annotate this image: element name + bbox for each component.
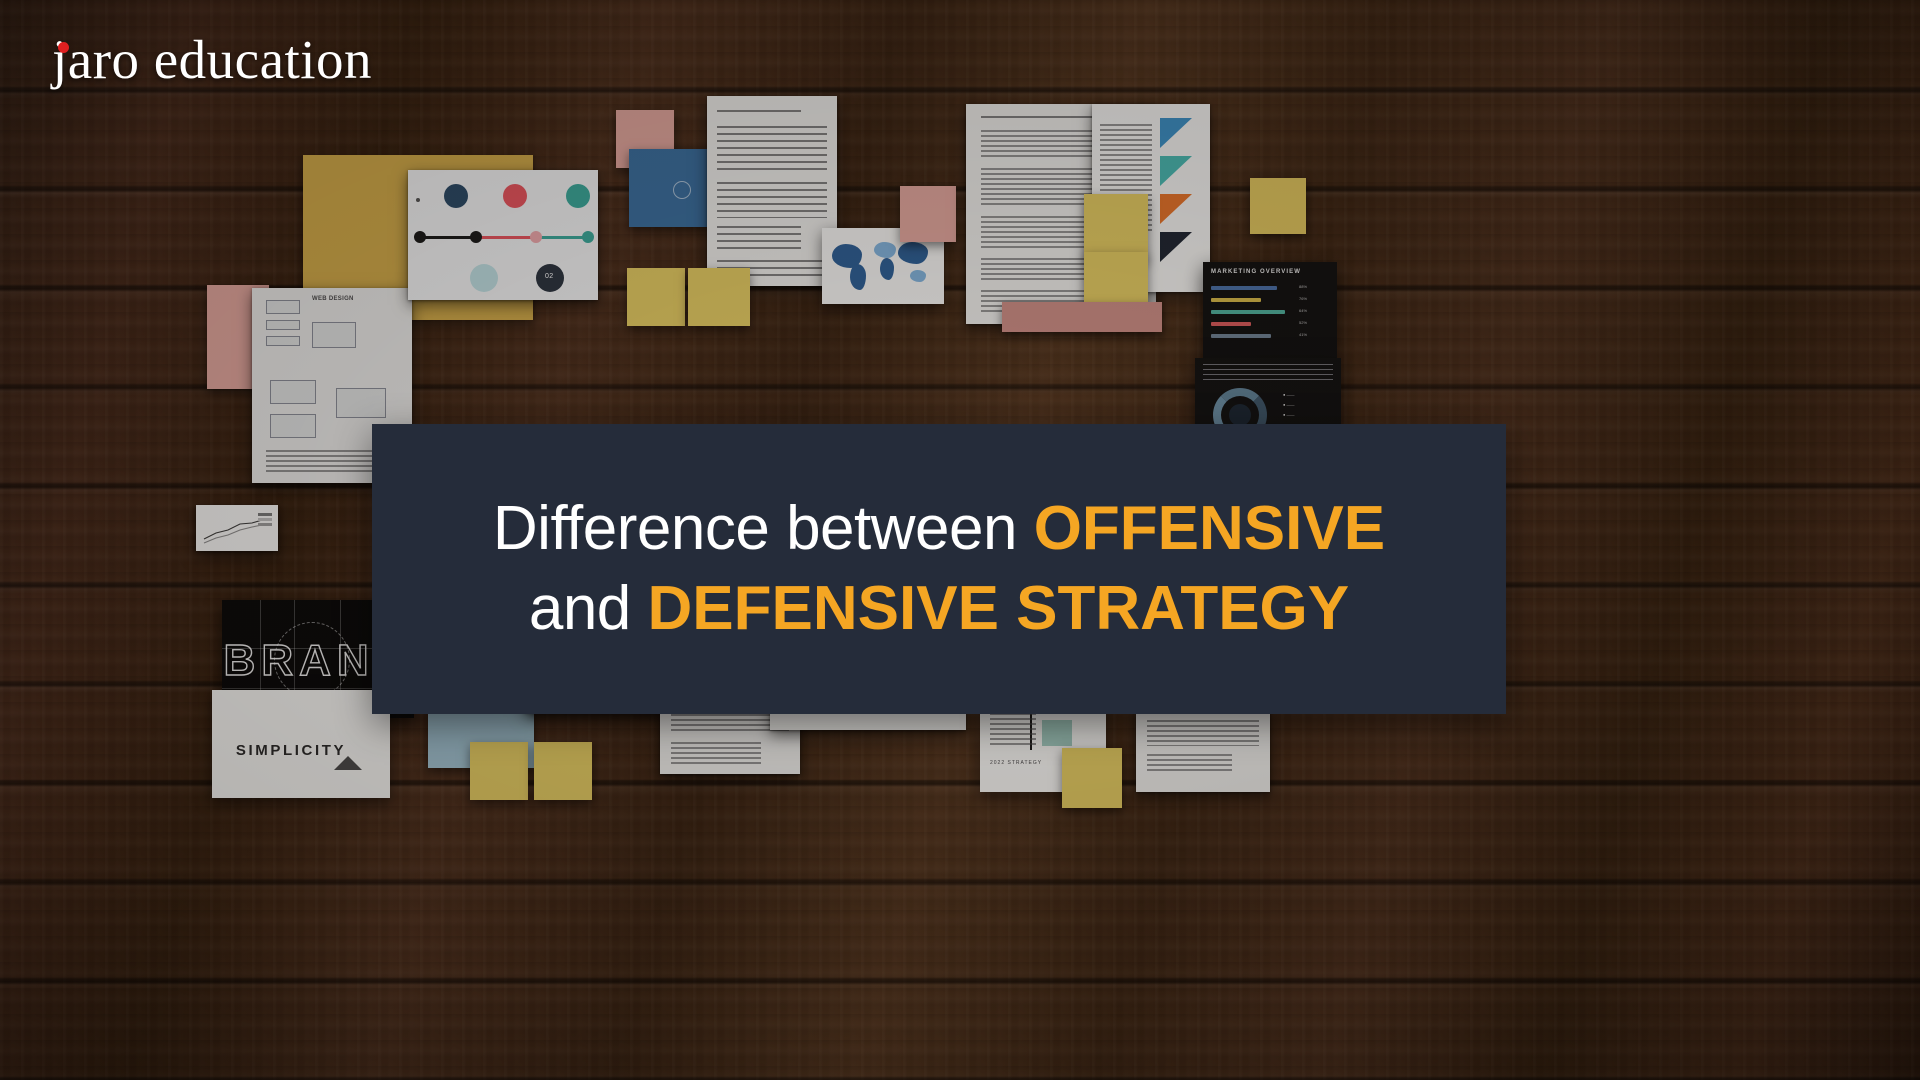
triangle-blue — [1160, 118, 1192, 148]
mountain-icon — [334, 756, 362, 770]
blue-card-circle-icon — [673, 181, 691, 199]
doc-lines — [1147, 720, 1260, 746]
title-line-1: Difference between OFFENSIVE — [493, 489, 1385, 569]
title-line-2: and DEFENSIVE STRATEGY — [529, 569, 1349, 649]
yellow-sticky-far-right — [1250, 178, 1306, 234]
logo-dot-icon — [58, 42, 69, 53]
triangle-teal — [1160, 156, 1192, 186]
line-chart-card — [196, 505, 278, 551]
title-line-2-prefix: and — [529, 574, 648, 643]
wireframe-box — [270, 380, 316, 404]
wireframe-box — [266, 300, 300, 314]
icon-circle-teal — [566, 184, 590, 208]
wireframe-box — [266, 336, 300, 346]
map-continent — [898, 242, 928, 264]
donut-legend-item: ● —— — [1283, 402, 1295, 407]
yellow-sticky-bottom-right — [1062, 748, 1122, 808]
doc-lines — [1147, 754, 1233, 774]
yellow-sticky-b — [688, 268, 750, 326]
pink-sticky-right-top — [1002, 302, 1162, 332]
bar-row — [1211, 310, 1285, 314]
bottom-circle-teal — [470, 264, 498, 292]
timeline-node — [470, 231, 482, 243]
marketing-card-title: MARKETING OVERVIEW — [1211, 269, 1301, 275]
doc-body-lines — [717, 226, 800, 252]
yellow-sticky-bottom-b — [534, 742, 592, 800]
yellow-sticky-a — [627, 268, 685, 326]
doc-lines — [671, 742, 761, 764]
yellow-sticky-c — [1084, 194, 1148, 260]
analytics-top-lines — [1203, 364, 1333, 380]
timeline-node — [414, 231, 426, 243]
bar-row — [1211, 286, 1277, 290]
timeline-step-label: 02 — [545, 274, 553, 280]
triangle-dark — [1160, 232, 1192, 262]
map-continent — [874, 242, 896, 258]
map-continent — [850, 264, 866, 290]
marketing-overview-card: MARKETING OVERVIEW 88% 76% 64% 52% 41% — [1203, 262, 1337, 362]
logo-text: jaro education — [52, 29, 372, 90]
doc-heading-lines — [717, 110, 800, 114]
timeline-track-pink — [478, 236, 538, 239]
line-chart-icon — [196, 505, 278, 551]
bar-row — [1211, 298, 1261, 302]
idea-swatch — [1042, 720, 1072, 746]
brand-logo[interactable]: jaro education — [52, 28, 372, 91]
bar-percent-label: 64% — [1299, 308, 1307, 313]
triangle-orange — [1160, 194, 1192, 224]
wireframe-box — [312, 322, 356, 348]
timeline-track-dark — [418, 236, 478, 239]
map-continent — [910, 270, 926, 282]
poster-canvas: WEB DESIGN 02 — [0, 0, 1920, 1080]
web-design-label: WEB DESIGN — [312, 296, 354, 302]
title-line-2-accent: DEFENSIVE STRATEGY — [648, 574, 1350, 643]
timeline-node — [530, 231, 542, 243]
idea-subtitle: 2022 STRATEGY — [990, 760, 1042, 766]
pink-sticky-map — [900, 186, 956, 242]
doc-body-lines — [717, 182, 826, 218]
title-line-1-accent: OFFENSIVE — [1034, 494, 1385, 563]
donut-legend-item: ● —— — [1283, 412, 1295, 417]
bar-row — [1211, 334, 1271, 338]
report-heading — [981, 116, 1103, 120]
wireframe-box — [266, 320, 300, 330]
bar-percent-label: 76% — [1299, 296, 1307, 301]
title-banner: Difference between OFFENSIVE and DEFENSI… — [372, 424, 1506, 714]
title-line-1-prefix: Difference between — [493, 494, 1034, 563]
timeline-node — [582, 231, 594, 243]
simplicity-card: SIMPLICITY — [212, 690, 390, 798]
document-center-top — [707, 96, 837, 286]
bottom-right-document — [1136, 706, 1270, 792]
simplicity-word: SIMPLICITY — [212, 742, 390, 759]
wireframe-box — [270, 414, 316, 438]
donut-legend-item: ● —— — [1283, 392, 1295, 397]
timeline-dot — [416, 198, 420, 202]
infographic-timeline-card: 02 — [408, 170, 598, 300]
bar-percent-label: 88% — [1299, 284, 1307, 289]
donut-inner — [1229, 404, 1251, 426]
icon-circle-red — [503, 184, 527, 208]
map-continent — [880, 258, 894, 280]
bar-percent-label: 52% — [1299, 320, 1307, 325]
doc-body-lines — [717, 126, 826, 172]
bar-percent-label: 41% — [1299, 332, 1307, 337]
bar-row — [1211, 322, 1251, 326]
wireframe-box — [336, 388, 386, 418]
yellow-sticky-bottom-a — [470, 742, 528, 800]
icon-circle-blue — [444, 184, 468, 208]
